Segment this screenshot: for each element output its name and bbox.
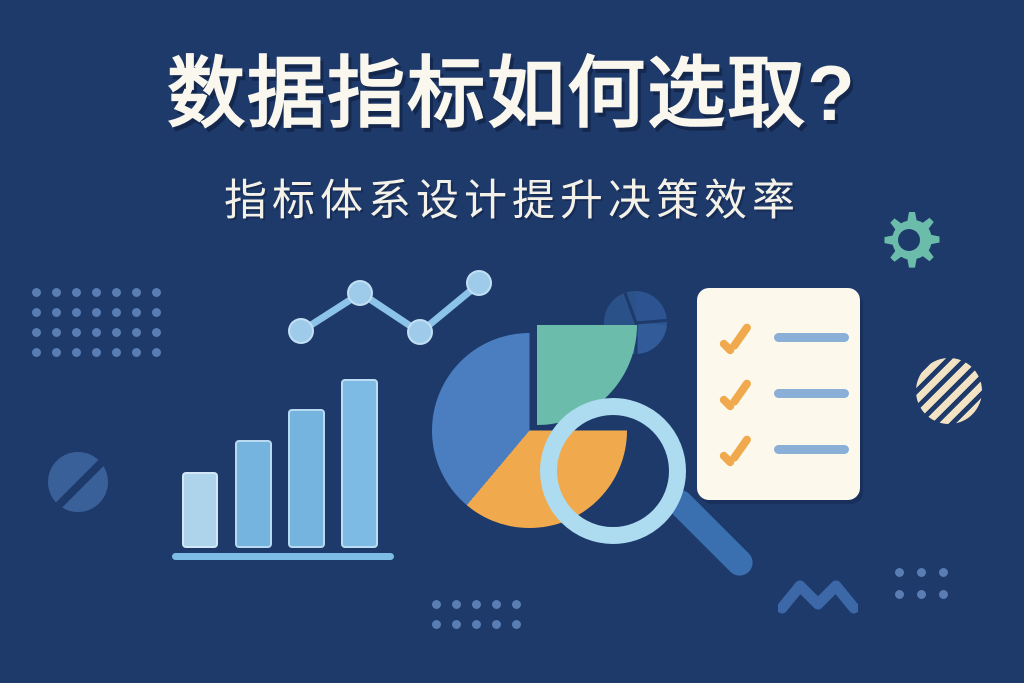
dot bbox=[452, 600, 461, 609]
dot bbox=[492, 600, 501, 609]
page-subtitle: 指标体系设计提升决策效率 bbox=[0, 178, 1024, 225]
dot bbox=[152, 328, 161, 337]
checklist-line bbox=[774, 389, 849, 398]
dot bbox=[72, 308, 81, 317]
dot bbox=[152, 308, 161, 317]
dot bbox=[939, 590, 948, 599]
checklist-item bbox=[719, 322, 849, 356]
dot bbox=[895, 568, 904, 577]
dot bbox=[52, 308, 61, 317]
dot bbox=[432, 620, 441, 629]
striped-circle-icon bbox=[916, 358, 982, 424]
dot bbox=[72, 288, 81, 297]
dot bbox=[112, 288, 121, 297]
dot-grid-right bbox=[895, 568, 948, 599]
dot bbox=[92, 348, 101, 357]
dot bbox=[112, 328, 121, 337]
page-title: 数据指标如何选取? bbox=[0, 52, 1024, 135]
dot bbox=[472, 620, 481, 629]
slash-line bbox=[49, 452, 108, 512]
zigzag-icon bbox=[778, 578, 858, 614]
magnifier-lens bbox=[540, 398, 686, 544]
dot bbox=[132, 348, 141, 357]
dot bbox=[132, 308, 141, 317]
dot bbox=[32, 288, 41, 297]
bar-4 bbox=[341, 379, 378, 548]
dot bbox=[72, 348, 81, 357]
dot bbox=[112, 348, 121, 357]
dot bbox=[132, 288, 141, 297]
title-block: 数据指标如何选取? bbox=[0, 52, 1024, 135]
slashed-circle-icon bbox=[48, 452, 108, 512]
dot bbox=[452, 620, 461, 629]
dot bbox=[52, 328, 61, 337]
dot bbox=[112, 308, 121, 317]
dot bbox=[152, 348, 161, 357]
dot bbox=[132, 328, 141, 337]
dot bbox=[472, 600, 481, 609]
bar-2 bbox=[235, 440, 272, 548]
dot bbox=[512, 600, 521, 609]
checklist-line bbox=[774, 445, 849, 454]
dot-grid-bottom bbox=[432, 600, 521, 629]
dot bbox=[92, 288, 101, 297]
line-data-point bbox=[466, 270, 492, 296]
line-data-point bbox=[288, 318, 314, 344]
dot bbox=[32, 308, 41, 317]
dot-grid-left bbox=[32, 288, 161, 357]
dot bbox=[32, 348, 41, 357]
line-data-point bbox=[407, 319, 433, 345]
check-icon bbox=[719, 324, 759, 354]
dot bbox=[895, 590, 904, 599]
bar-chart-axis bbox=[172, 553, 394, 560]
dot bbox=[52, 288, 61, 297]
subtitle-block: 指标体系设计提升决策效率 bbox=[0, 178, 1024, 225]
dot bbox=[92, 328, 101, 337]
dot bbox=[432, 600, 441, 609]
bar-1 bbox=[182, 472, 218, 548]
dot bbox=[72, 328, 81, 337]
poster-canvas: 数据指标如何选取? 指标体系设计提升决策效率 bbox=[0, 0, 1024, 683]
dot bbox=[512, 620, 521, 629]
dot bbox=[939, 568, 948, 577]
bar-chart bbox=[170, 380, 380, 570]
dot bbox=[917, 590, 926, 599]
dot bbox=[52, 348, 61, 357]
dot bbox=[152, 288, 161, 297]
dot bbox=[492, 620, 501, 629]
dot bbox=[92, 308, 101, 317]
checklist-line bbox=[774, 333, 849, 342]
magnifier-icon bbox=[540, 398, 750, 578]
dot bbox=[917, 568, 926, 577]
bar-3 bbox=[288, 409, 325, 548]
dot bbox=[32, 328, 41, 337]
